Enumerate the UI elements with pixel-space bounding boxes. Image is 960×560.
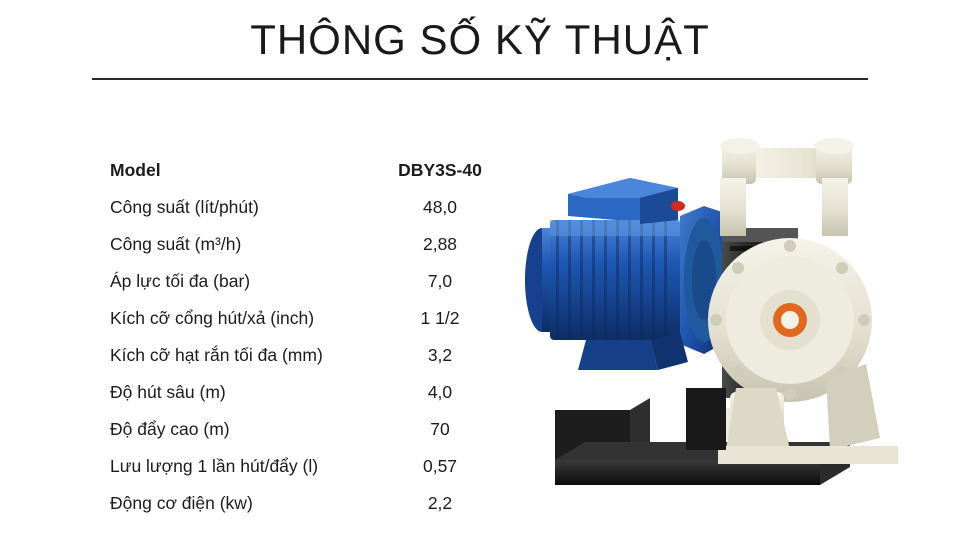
title-divider [92, 78, 868, 80]
spec-label: Độ hút sâu (m) [110, 374, 380, 411]
table-row: Độ hút sâu (m) 4,0 [110, 374, 500, 411]
table-row: Công suất (lít/phút) 48,0 [110, 189, 500, 226]
spec-value: 2,2 [380, 485, 500, 522]
spec-value: 0,57 [380, 448, 500, 485]
spec-table-body: Model DBY3S-40 Công suất (lít/phút) 48,0… [110, 152, 500, 522]
spec-value: 2,88 [380, 226, 500, 263]
spec-value: 48,0 [380, 189, 500, 226]
spec-label: Áp lực tối đa (bar) [110, 263, 380, 300]
spec-label: Model [110, 152, 380, 189]
table-row: Model DBY3S-40 [110, 152, 500, 189]
spec-label: Kích cỡ cổng hút/xả (inch) [110, 300, 380, 337]
spec-label: Lưu lượng 1 lần hút/đẩy (l) [110, 448, 380, 485]
slide-page: THÔNG SỐ KỸ THUẬT Model DBY3S-40 Công su… [0, 0, 960, 560]
spec-label: Kích cỡ hạt rắn tối đa (mm) [110, 337, 380, 374]
spec-value: 70 [380, 411, 500, 448]
motor-indicator [671, 201, 685, 211]
table-row: Độ đẩy cao (m) 70 [110, 411, 500, 448]
spec-value: 4,0 [380, 374, 500, 411]
spec-label: Độ đẩy cao (m) [110, 411, 380, 448]
specification-table: Model DBY3S-40 Công suất (lít/phút) 48,0… [110, 152, 500, 522]
table-row: Kích cỡ cổng hút/xả (inch) 1 1/2 [110, 300, 500, 337]
table-row: Áp lực tối đa (bar) 7,0 [110, 263, 500, 300]
diaphragm-chamber [697, 138, 898, 464]
spec-label: Công suất (m³/h) [110, 226, 380, 263]
mounting-bracket [686, 388, 726, 450]
spec-label: Công suất (lít/phút) [110, 189, 380, 226]
table-row: Kích cỡ hạt rắn tối đa (mm) 3,2 [110, 337, 500, 374]
spec-value: DBY3S-40 [380, 152, 500, 189]
spec-value: 3,2 [380, 337, 500, 374]
spec-label: Động cơ điện (kw) [110, 485, 380, 522]
product-image [490, 120, 960, 520]
spec-value: 1 1/2 [380, 300, 500, 337]
page-title: THÔNG SỐ KỸ THUẬT [0, 16, 960, 64]
electric-motor [525, 178, 724, 370]
table-row: Động cơ điện (kw) 2,2 [110, 485, 500, 522]
table-row: Công suất (m³/h) 2,88 [110, 226, 500, 263]
spec-value: 7,0 [380, 263, 500, 300]
table-row: Lưu lượng 1 lần hút/đẩy (l) 0,57 [110, 448, 500, 485]
